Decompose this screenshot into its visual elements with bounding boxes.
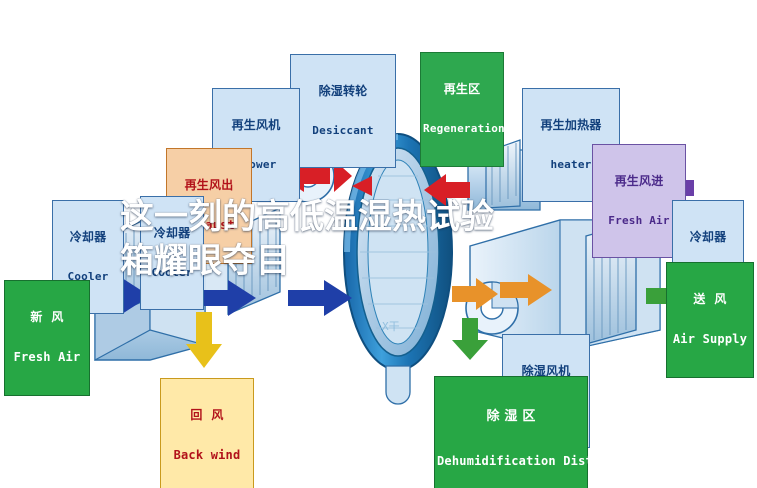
label-back-wind: 回 风 Back wind — [160, 378, 254, 488]
label-dehumidification-district: 除 湿 区 Dehumidification District — [434, 376, 588, 488]
label-desiccant: 除湿转轮 Desiccant — [290, 54, 396, 168]
label-regeneration-area: 再生区 Regeneration Area — [420, 52, 504, 167]
label-cooler-mid: 冷却器 Cooler — [140, 196, 204, 310]
label-air-supply: 送 风 Air Supply — [666, 262, 754, 378]
diagram-canvas: X干 除湿转轮 Desiccant 再生风机 Blower 再生区 Regene… — [0, 0, 757, 488]
label-fresh-air: 新 风 Fresh Air — [4, 280, 90, 396]
ghost-text: X干 — [382, 318, 400, 334]
